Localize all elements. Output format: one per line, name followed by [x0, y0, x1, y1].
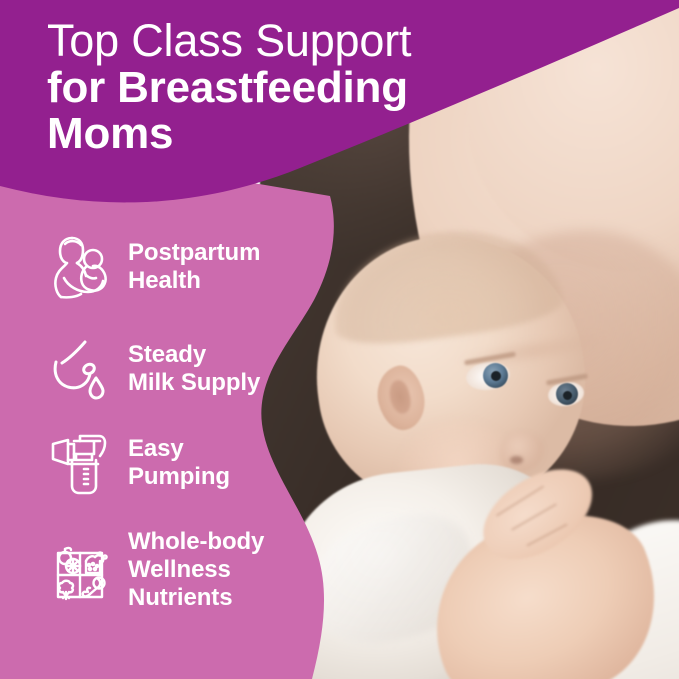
headline-line-1: Top Class Support	[47, 17, 607, 65]
feature-item-easy-pumping: Easy Pumping	[46, 428, 230, 498]
food-plate-nutrients-icon	[46, 535, 114, 605]
product-banner: Top Class Support for Breastfeeding Moms	[0, 0, 679, 679]
headline-line-3: Moms	[47, 111, 607, 158]
feature-item-wellness-nutrients: Whole-body Wellness Nutrients	[46, 528, 264, 611]
breast-milk-drop-icon	[46, 334, 114, 404]
page-title: Top Class Support for Breastfeeding Moms	[47, 17, 607, 158]
feature-label-postpartum-health: Postpartum Health	[128, 239, 260, 295]
mother-holding-baby-icon	[46, 232, 114, 302]
feature-label-easy-pumping: Easy Pumping	[128, 435, 230, 491]
headline-line-2: for Breastfeeding	[47, 65, 607, 112]
breast-pump-bottle-icon	[46, 428, 114, 498]
feature-item-postpartum-health: Postpartum Health	[46, 232, 260, 302]
feature-label-steady-milk-supply: Steady Milk Supply	[128, 341, 260, 397]
feature-item-steady-milk-supply: Steady Milk Supply	[46, 334, 260, 404]
feature-label-wellness-nutrients: Whole-body Wellness Nutrients	[128, 528, 264, 611]
